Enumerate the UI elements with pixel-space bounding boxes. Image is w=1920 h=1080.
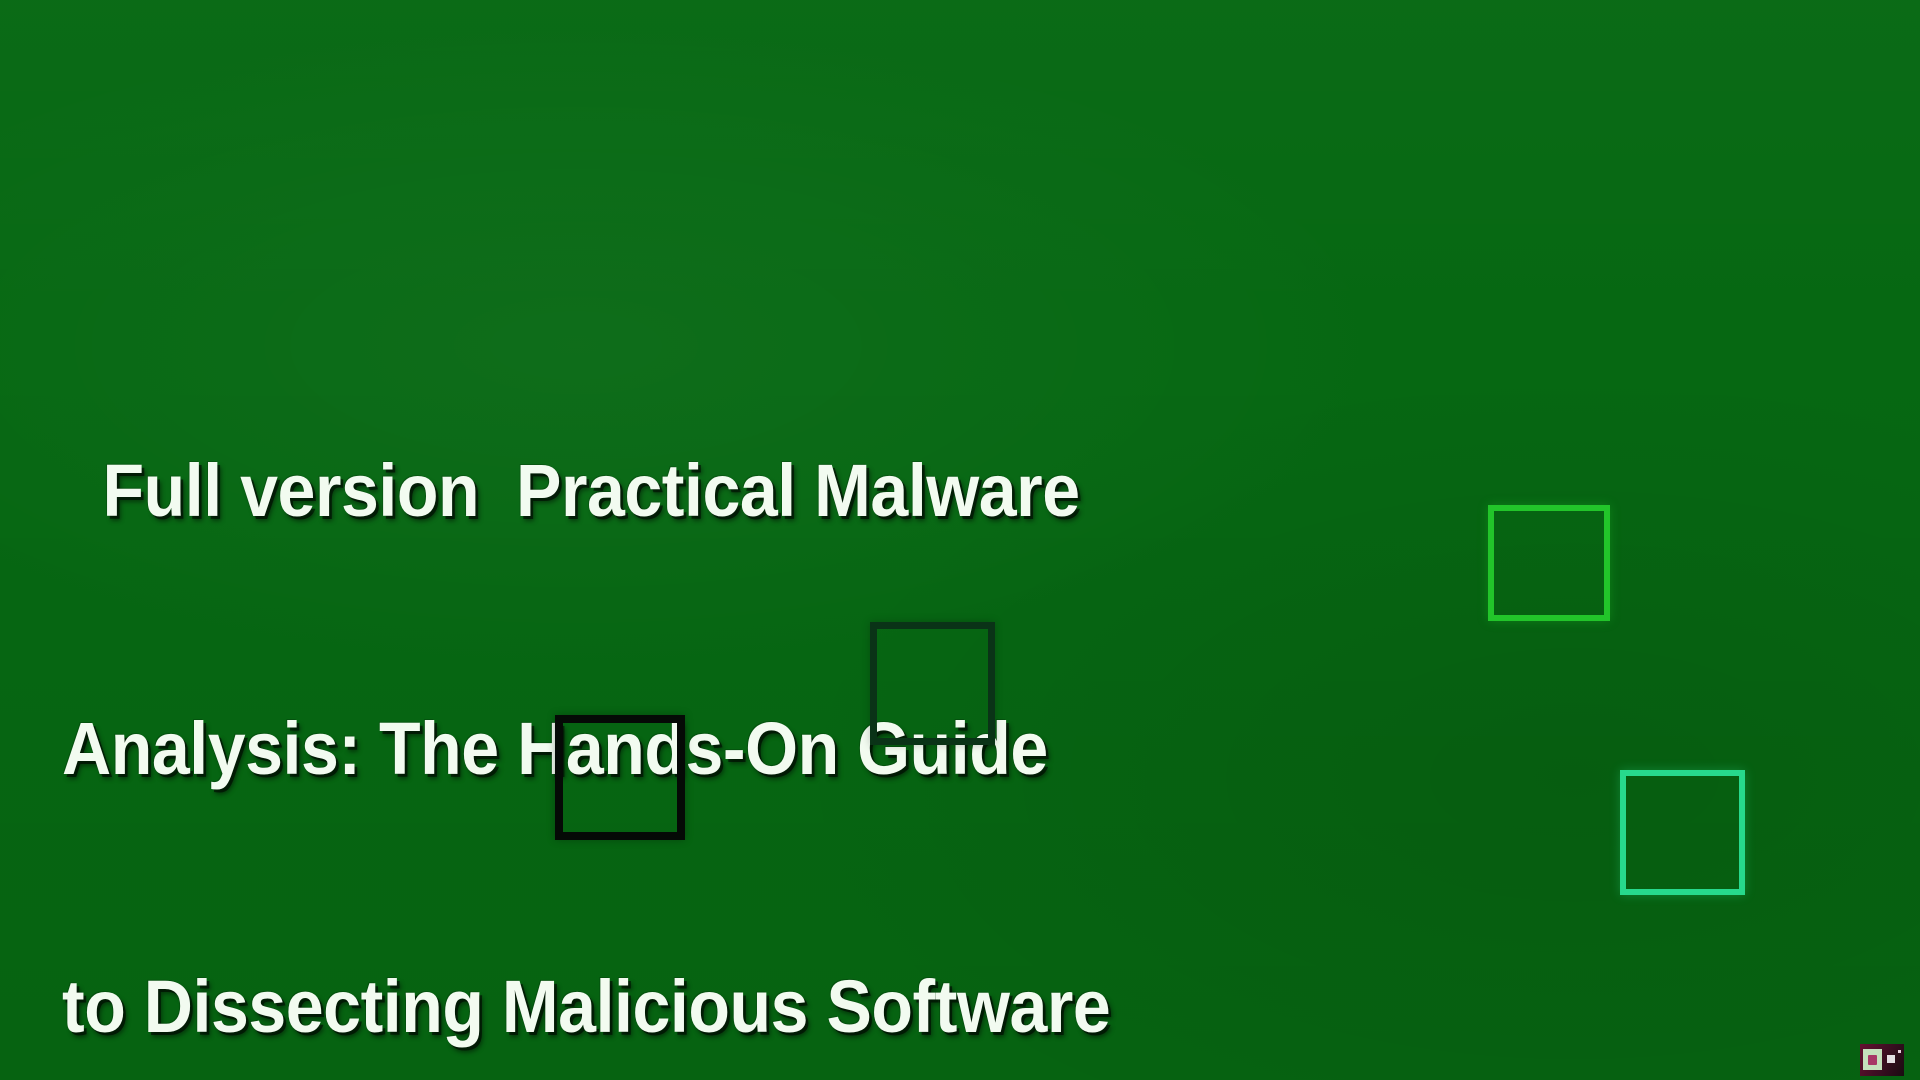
decorative-square-teal [1620, 770, 1745, 895]
watermark-spark [1898, 1050, 1901, 1053]
decorative-square-bright-green [1488, 505, 1610, 621]
title-line-3: to Dissecting Malicious Software [62, 964, 1212, 1050]
page-title: Full version Practical Malware Analysis:… [62, 276, 1212, 1080]
title-line-1: Full version Practical Malware [62, 448, 1212, 534]
watermark-mark [1868, 1055, 1877, 1065]
corner-watermark-badge [1860, 1044, 1904, 1076]
video-thumbnail-frame: Full version Practical Malware Analysis:… [0, 0, 1920, 1080]
decorative-square-dark-green [870, 622, 995, 745]
watermark-dot [1887, 1055, 1895, 1063]
decorative-square-black [555, 715, 685, 840]
